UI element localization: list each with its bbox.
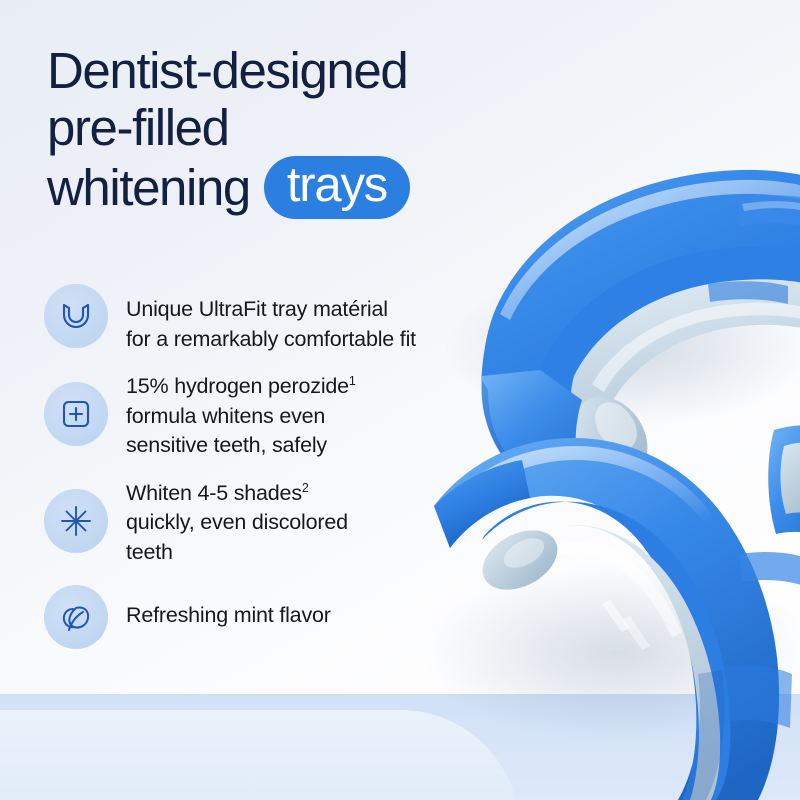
- product-feature-graphic: Dentist-designed pre-filled whitening tr…: [0, 0, 800, 800]
- mint-leaf-icon: [44, 585, 108, 649]
- feature-text-hydrogen-peroxide: 15% hydrogen perozide1 formula whitens e…: [126, 372, 356, 461]
- tray-outline-icon: [44, 284, 108, 348]
- feature-2-line-1: 15% hydrogen perozide: [126, 374, 349, 398]
- sparkle-star-icon: [44, 489, 108, 553]
- feature-2-line-2: formula whitens even: [126, 404, 325, 428]
- feature-3-footnote: 2: [302, 480, 309, 494]
- plus-square-icon: [44, 382, 108, 446]
- feature-text-mint-flavor: Refreshing mint flavor: [126, 585, 331, 631]
- headline-line-3: whitening trays: [47, 156, 477, 219]
- feature-item-ultrafit-material: Unique UltraFit tray matérial for a rema…: [44, 284, 444, 354]
- feature-item-hydrogen-peroxide: 15% hydrogen perozide1 formula whitens e…: [44, 372, 444, 461]
- trays-pill-badge: trays: [264, 156, 410, 219]
- feature-list: Unique UltraFit tray matérial for a rema…: [44, 284, 444, 667]
- headline-line-2: pre-filled: [47, 99, 477, 156]
- feature-3-line-1: Whiten 4-5 shades: [126, 481, 302, 505]
- right-partial-tray: [768, 425, 800, 538]
- feature-text-whiten-shades: Whiten 4-5 shades2 quickly, even discolo…: [126, 479, 348, 568]
- headline: Dentist-designed pre-filled whitening tr…: [47, 42, 477, 219]
- feature-text-ultrafit-material: Unique UltraFit tray matérial for a rema…: [126, 284, 416, 354]
- headline-line-3-text: whitening: [47, 159, 250, 216]
- headline-line-1: Dentist-designed: [47, 42, 477, 99]
- feature-1-line-1: Unique UltraFit tray matérial: [126, 297, 388, 321]
- feature-item-whiten-shades: Whiten 4-5 shades2 quickly, even discolo…: [44, 479, 444, 568]
- feature-item-mint-flavor: Refreshing mint flavor: [44, 585, 444, 649]
- feature-3-line-3: teeth: [126, 540, 173, 564]
- feature-4-line-1: Refreshing mint flavor: [126, 603, 331, 627]
- feature-1-line-2: for a remarkably comfortable fit: [126, 327, 416, 351]
- feature-2-footnote: 1: [349, 374, 356, 388]
- feature-3-line-2: quickly, even discolored: [126, 510, 348, 534]
- feature-2-line-3: sensitive teeth, safely: [126, 433, 327, 457]
